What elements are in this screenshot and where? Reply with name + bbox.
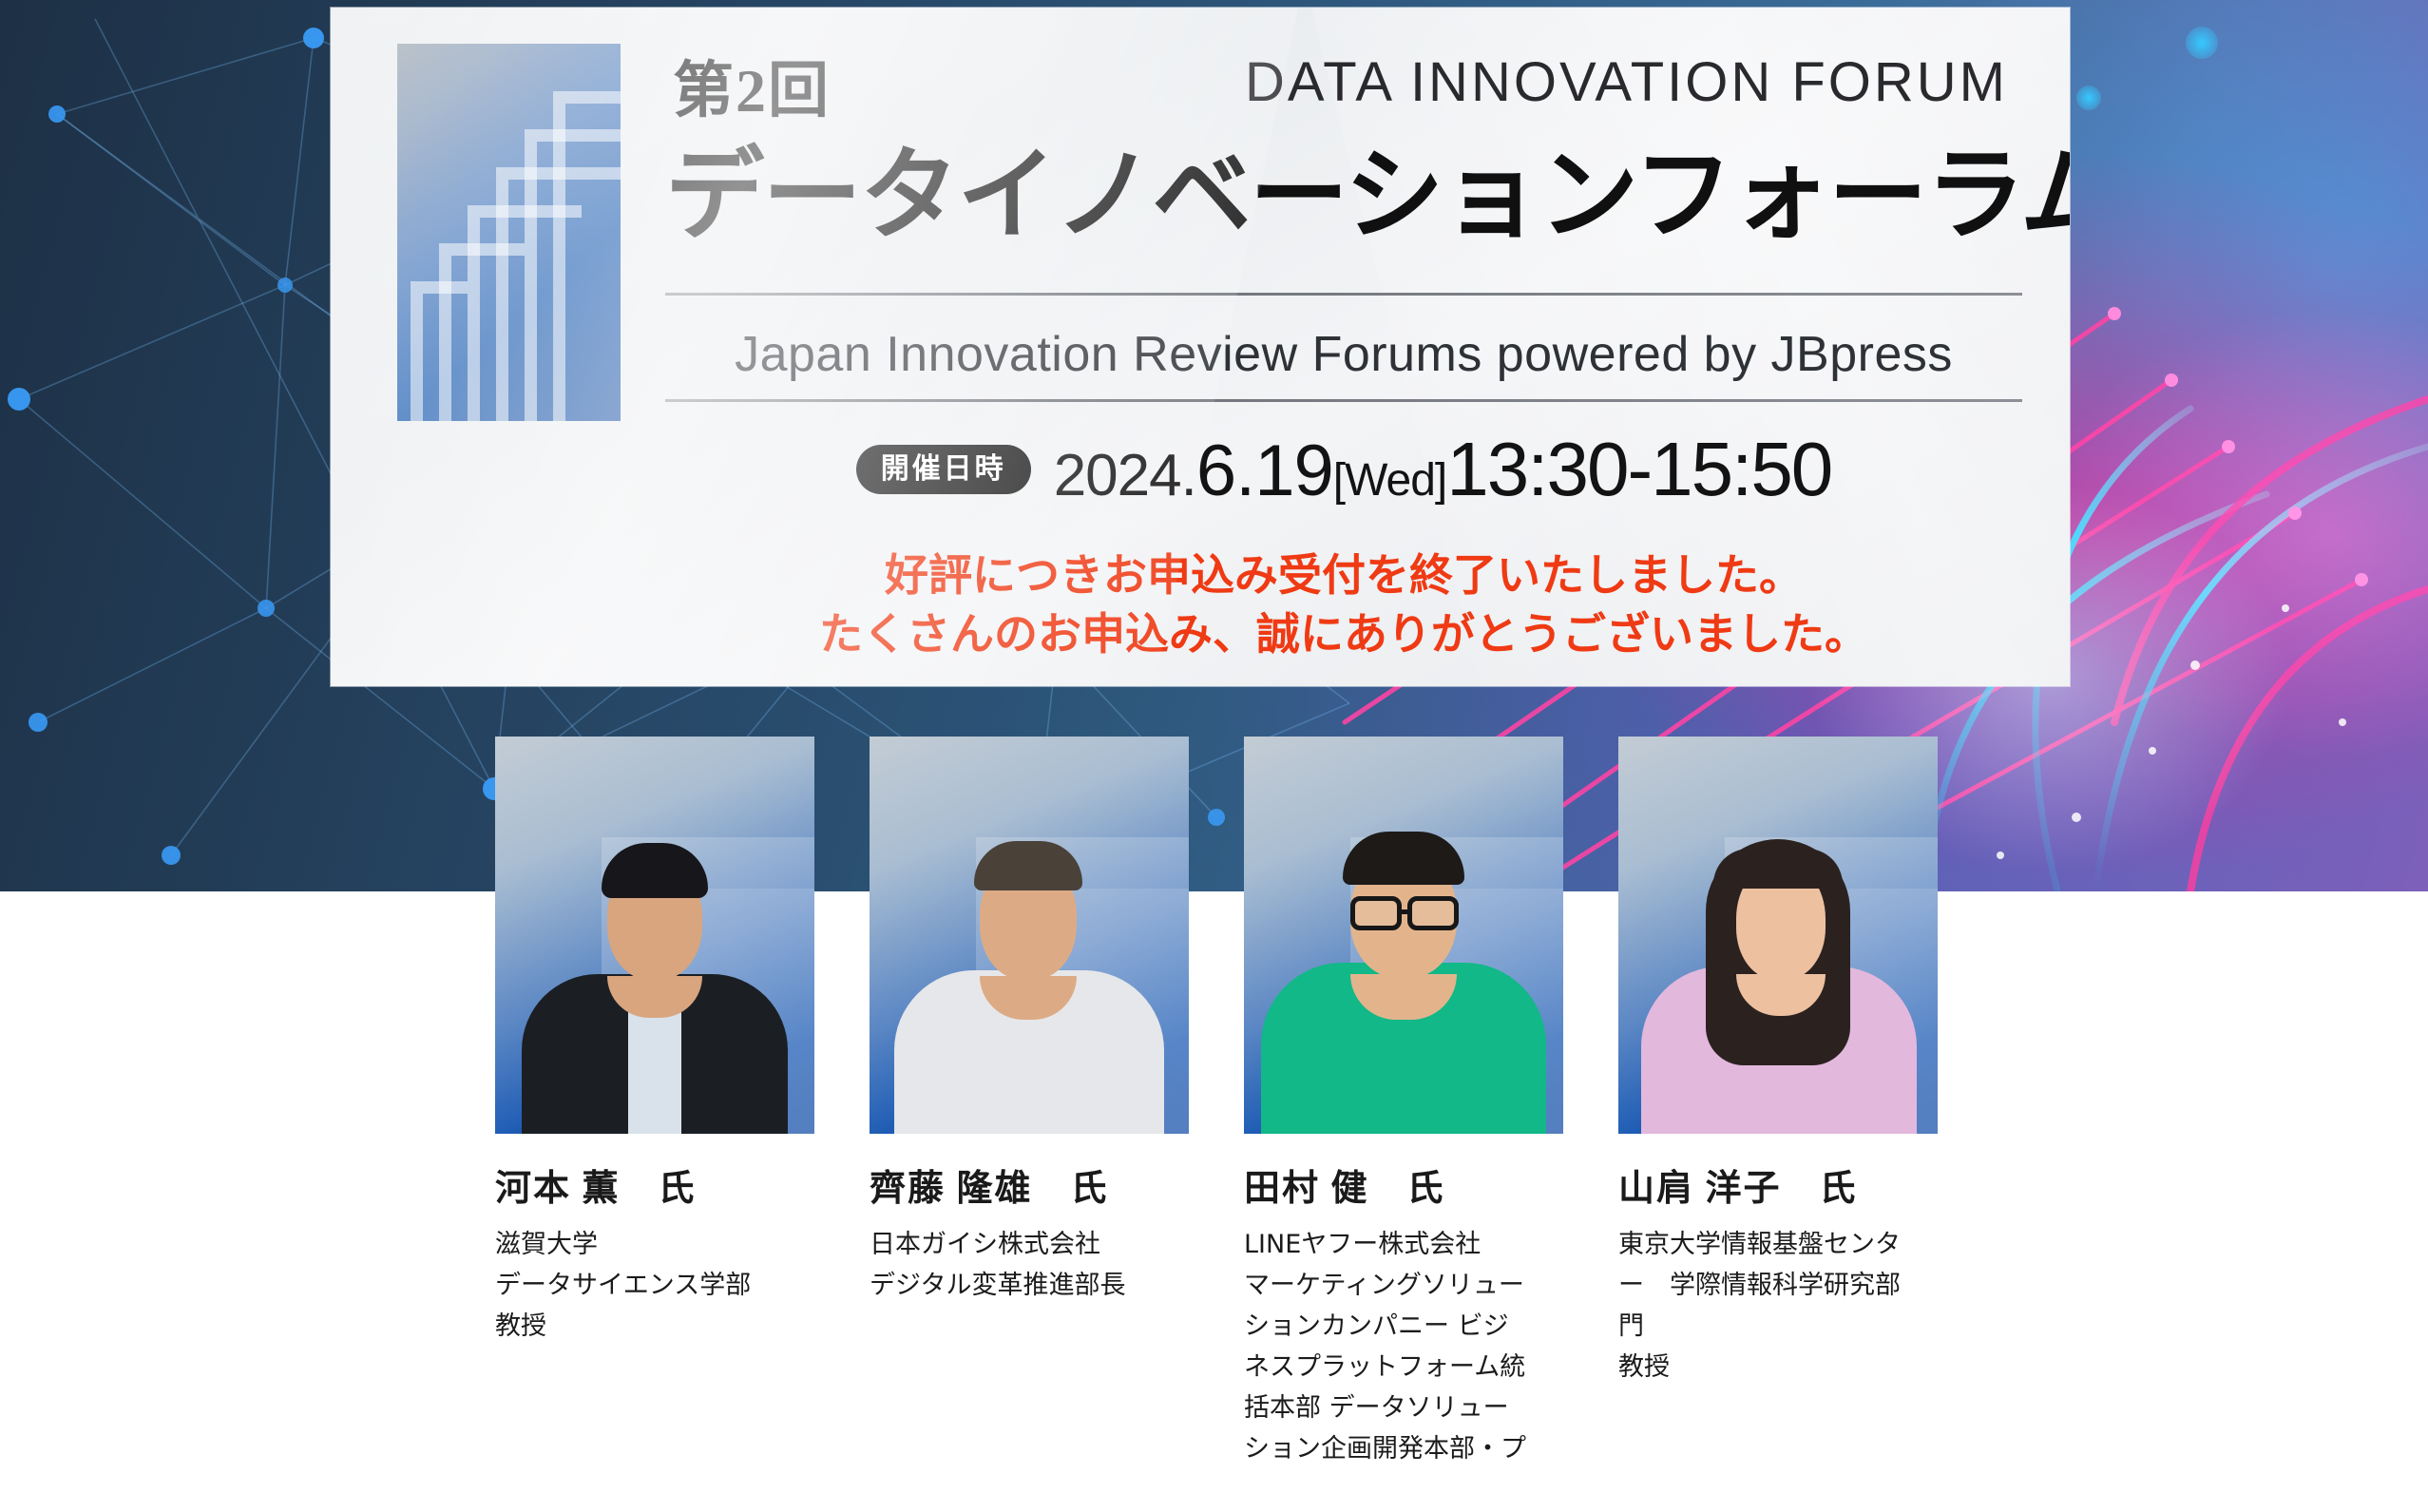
date-year: 2024. <box>1054 443 1196 508</box>
notice-line-1: 好評につきお申込み受付を終了いたしました。 <box>665 545 2022 604</box>
page-title: データイノベーションフォーラム <box>665 129 2002 262</box>
affiliation-line: データサイエンス学部 <box>495 1265 814 1306</box>
affiliation-line: LINEヤフー株式会社 <box>1244 1224 1563 1265</box>
speaker-affiliation: 日本ガイシ株式会社 デジタル変革推進部長 <box>870 1224 1189 1306</box>
datetime-badge: 開催日時 <box>856 445 1031 494</box>
affiliation-line: 滋賀大学 <box>495 1224 814 1265</box>
divider-top <box>665 293 2022 296</box>
affiliation-line: ー 学際情報科学研究部 <box>1618 1265 1938 1306</box>
forum-name-english: DATA INNOVATION FORUM <box>1245 50 2008 114</box>
subtitle: Japan Innovation Review Forums powered b… <box>665 314 2022 395</box>
speaker-name: 山肩 洋子 氏 <box>1618 1158 1938 1211</box>
affiliation-line: ションカンパニー ビジ <box>1244 1306 1563 1347</box>
affiliation-line: 教授 <box>495 1306 814 1347</box>
speaker-card[interactable]: 河本 薫 氏 滋賀大学 データサイエンス学部 教授 <box>495 737 814 1347</box>
speaker-card[interactable]: 山肩 洋子 氏 東京大学情報基盤センタ ー 学際情報科学研究部 門 教授 <box>1618 737 1938 1388</box>
divider-bottom <box>665 399 2022 402</box>
notice-line-2: たくさんのお申込み、誠にありがとうございました。 <box>665 604 2022 663</box>
affiliation-line: ション企画開発本部・プ <box>1244 1428 1563 1469</box>
speaker-photo <box>1244 737 1563 1134</box>
speaker-affiliation: LINEヤフー株式会社 マーケティングソリュー ションカンパニー ビジ ネスプラ… <box>1244 1224 1563 1469</box>
affiliation-line: 括本部 データソリュー <box>1244 1388 1563 1428</box>
event-datetime-row: 開催日時 2024.6.19[Wed]13:30-15:50 <box>665 424 2022 515</box>
event-landing-page: 第2回 DATA INNOVATION FORUM データイノベーションフォーラ… <box>0 0 2428 1512</box>
speaker-name: 齊藤 隆雄 氏 <box>870 1158 1189 1211</box>
glow-dot <box>2186 27 2218 59</box>
speaker-list: 河本 薫 氏 滋賀大学 データサイエンス学部 教授 齊藤 隆雄 氏 日本ガイシ株… <box>495 737 1940 1512</box>
glow-dot <box>2076 86 2101 110</box>
event-banner-card: 第2回 DATA INNOVATION FORUM データイノベーションフォーラ… <box>331 8 2070 686</box>
edition-label: 第2回 <box>673 42 831 129</box>
speaker-card[interactable]: 田村 健 氏 LINEヤフー株式会社 マーケティングソリュー ションカンパニー … <box>1244 737 1563 1469</box>
forum-logo-icon <box>397 44 621 421</box>
affiliation-line: 門 <box>1618 1306 1938 1347</box>
speaker-affiliation: 滋賀大学 データサイエンス学部 教授 <box>495 1224 814 1347</box>
speaker-photo <box>870 737 1189 1134</box>
affiliation-line: ネスプラットフォーム統 <box>1244 1347 1563 1388</box>
speaker-name: 田村 健 氏 <box>1244 1158 1563 1211</box>
affiliation-line: マーケティングソリュー <box>1244 1265 1563 1306</box>
speaker-photo <box>1618 737 1938 1134</box>
speaker-name: 河本 薫 氏 <box>495 1158 814 1211</box>
affiliation-line: 東京大学情報基盤センタ <box>1618 1224 1938 1265</box>
speaker-photo <box>495 737 814 1134</box>
event-time: 13:30-15:50 <box>1446 427 1831 511</box>
registration-closed-notice: 好評につきお申込み受付を終了いたしました。 たくさんのお申込み、誠にありがとうご… <box>665 545 2022 663</box>
affiliation-line: 教授 <box>1618 1347 1938 1388</box>
affiliation-line: デジタル変革推進部長 <box>870 1265 1189 1306</box>
date-weekday: [Wed] <box>1333 455 1447 506</box>
affiliation-line: 日本ガイシ株式会社 <box>870 1224 1189 1265</box>
date-month-day: 6.19 <box>1196 431 1333 511</box>
speaker-affiliation: 東京大学情報基盤センタ ー 学際情報科学研究部 門 教授 <box>1618 1224 1938 1388</box>
speaker-card[interactable]: 齊藤 隆雄 氏 日本ガイシ株式会社 デジタル変革推進部長 <box>870 737 1189 1306</box>
event-datetime: 2024.6.19[Wed]13:30-15:50 <box>1054 426 1832 513</box>
